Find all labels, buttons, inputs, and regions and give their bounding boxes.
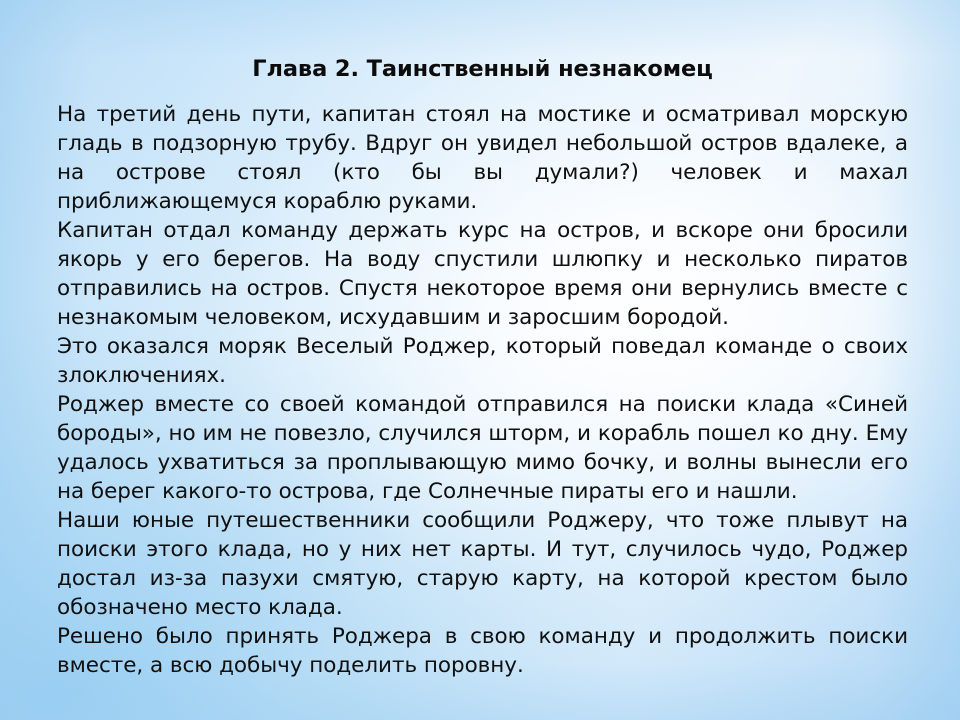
paragraph: Капитан отдал команду держать курс на ос… <box>57 216 908 332</box>
paragraph: Роджер вместе со своей командой отправил… <box>57 390 908 506</box>
story-body: На третий день пути, капитан стоял на мо… <box>57 100 908 680</box>
paragraph: На третий день пути, капитан стоял на мо… <box>57 100 908 216</box>
paragraph: Решено было принять Роджера в свою коман… <box>57 622 908 680</box>
slide-canvas: Глава 2. Таинственный незнакомец На трет… <box>0 0 960 720</box>
paragraph: Наши юные путешественники сообщили Родже… <box>57 506 908 622</box>
paragraph: Это оказался моряк Веселый Роджер, котор… <box>57 332 908 390</box>
page-title: Глава 2. Таинственный незнакомец <box>57 56 908 83</box>
